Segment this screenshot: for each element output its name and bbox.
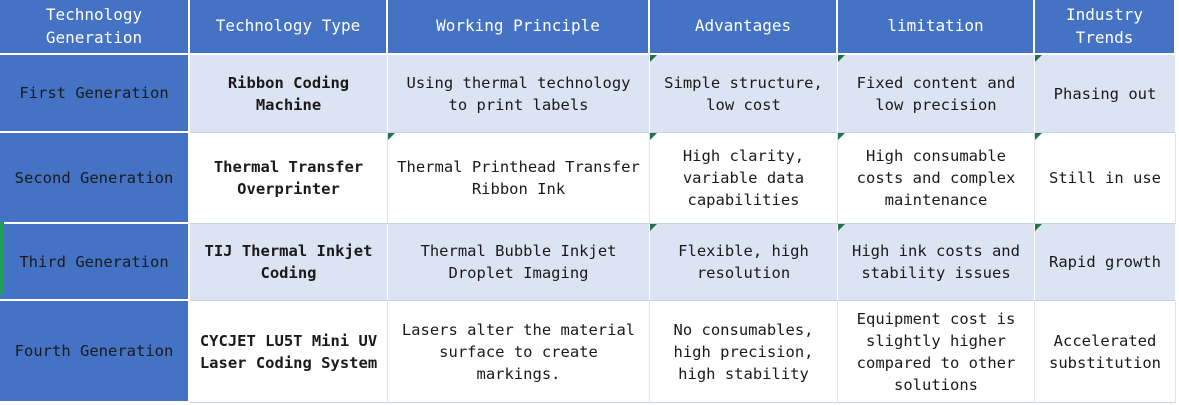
cell-technology-type[interactable]: TIJ Thermal Inkjet Coding [190, 224, 388, 301]
cell-generation[interactable]: Second Generation [0, 133, 190, 224]
cell-advantages[interactable]: Flexible, high resolution [650, 224, 838, 301]
cell-working-principle[interactable]: Thermal Bubble Inkjet Droplet Imaging [388, 224, 650, 301]
header-line-2: Trends [1076, 28, 1134, 47]
table-header-row: Technology Generation Technology Type Wo… [0, 0, 1176, 55]
column-header-working-principle[interactable]: Working Principle [388, 0, 650, 55]
cell-limitation[interactable]: Equipment cost is slightly higher compar… [838, 301, 1035, 403]
column-header-technology-generation[interactable]: Technology Generation [0, 0, 190, 55]
column-header-technology-type[interactable]: Technology Type [190, 0, 388, 55]
cell-limitation[interactable]: High consumable costs and complex mainte… [838, 133, 1035, 224]
cell-limitation[interactable]: Fixed content and low precision [838, 55, 1035, 133]
cell-generation[interactable]: Third Generation [0, 224, 190, 301]
cell-generation[interactable]: First Generation [0, 55, 190, 133]
table-row: First Generation Ribbon Coding Machine U… [0, 55, 1176, 133]
table-row: Fourth Generation CYCJET LU5T Mini UV La… [0, 301, 1176, 403]
cell-working-principle[interactable]: Thermal Printhead Transfer Ribbon Ink [388, 133, 650, 224]
cell-working-principle[interactable]: Lasers alter the material surface to cre… [388, 301, 650, 403]
cell-generation[interactable]: Fourth Generation [0, 301, 190, 403]
technology-comparison-table: Technology Generation Technology Type Wo… [0, 0, 1179, 405]
cell-industry-trends[interactable]: Phasing out [1035, 55, 1176, 133]
table-row: Third Generation TIJ Thermal Inkjet Codi… [0, 224, 1176, 301]
column-header-advantages[interactable]: Advantages [650, 0, 838, 55]
cell-technology-type[interactable]: Ribbon Coding Machine [190, 55, 388, 133]
header-line-1: Technology [46, 5, 142, 24]
cell-technology-type[interactable]: CYCJET LU5T Mini UV Laser Coding System [190, 301, 388, 403]
table-row: Second Generation Thermal Transfer Overp… [0, 133, 1176, 224]
cell-industry-trends[interactable]: Rapid growth [1035, 224, 1176, 301]
cell-advantages[interactable]: No consumables, high precision, high sta… [650, 301, 838, 403]
column-header-limitation[interactable]: limitation [838, 0, 1035, 55]
header-line-1: Industry [1066, 5, 1143, 24]
cell-industry-trends[interactable]: Accelerated substitution [1035, 301, 1176, 403]
cell-advantages[interactable]: Simple structure, low cost [650, 55, 838, 133]
header-line-2: Generation [46, 28, 142, 47]
comparison-table: Technology Generation Technology Type Wo… [0, 0, 1176, 403]
cell-limitation[interactable]: High ink costs and stability issues [838, 224, 1035, 301]
cell-working-principle[interactable]: Using thermal technology to print labels [388, 55, 650, 133]
cell-technology-type[interactable]: Thermal Transfer Overprinter [190, 133, 388, 224]
row-selection-marker [0, 222, 4, 294]
cell-advantages[interactable]: High clarity, variable data capabilities [650, 133, 838, 224]
column-header-industry-trends[interactable]: Industry Trends [1035, 0, 1176, 55]
cell-industry-trends[interactable]: Still in use [1035, 133, 1176, 224]
